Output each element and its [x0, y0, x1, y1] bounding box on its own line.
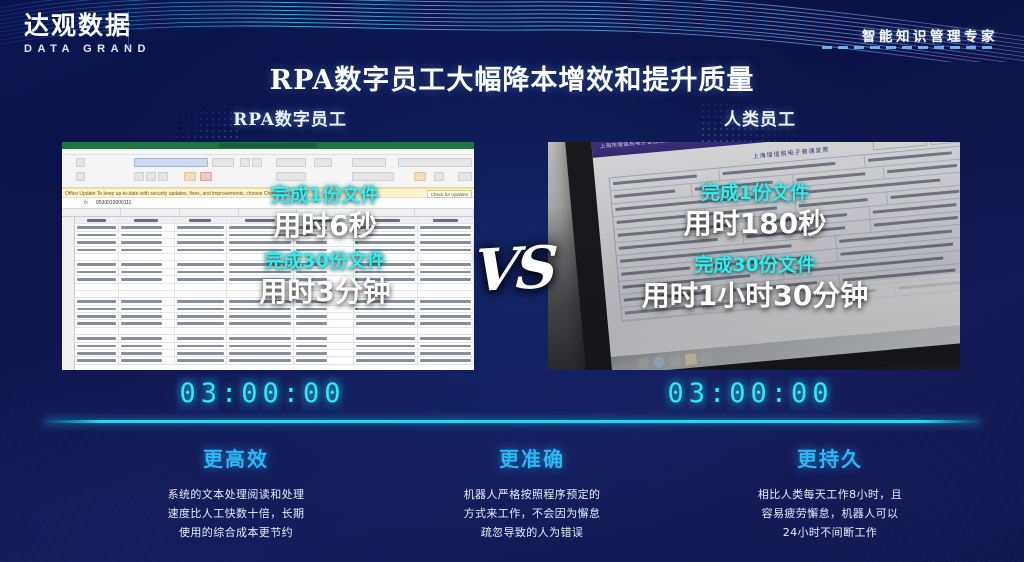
- table-cell[interactable]: [294, 261, 354, 267]
- excel-column-header-cell[interactable]: [121, 209, 180, 216]
- table-cell[interactable]: [119, 350, 175, 356]
- check-for-updates-button[interactable]: Check for Updates: [427, 190, 472, 198]
- table-cell[interactable]: [75, 247, 119, 253]
- timer-digit: 0: [727, 377, 747, 411]
- ribbon-orientation-icon: [314, 158, 332, 167]
- cell-text: [372, 219, 400, 222]
- table-cell[interactable]: [418, 284, 474, 290]
- table-cell[interactable]: [354, 224, 418, 230]
- table-cell[interactable]: [75, 284, 119, 290]
- cell-text: [229, 226, 292, 229]
- cell-text: [177, 226, 224, 229]
- table-cell[interactable]: [175, 350, 227, 356]
- brand-tagline: 智能知识管理专家: [862, 25, 998, 45]
- invoice-cell-text: [694, 181, 772, 191]
- table-cell[interactable]: [175, 217, 227, 223]
- brand-logo: 达观数据 DATA GRAND: [24, 13, 151, 55]
- cell-text: [121, 249, 162, 252]
- cell-text: [229, 337, 292, 340]
- cell-text: [296, 249, 326, 252]
- ribbon-align-group: [276, 158, 306, 167]
- cell-text: [229, 234, 292, 237]
- excel-column-header-cell[interactable]: [239, 209, 298, 216]
- cell-text: [177, 308, 224, 311]
- table-cell[interactable]: [354, 335, 418, 341]
- cell-status-dot: [355, 234, 357, 236]
- table-cell[interactable]: [227, 232, 295, 238]
- table-cell[interactable]: [175, 291, 227, 297]
- timer-digit: 0: [665, 377, 685, 411]
- table-cell[interactable]: [75, 254, 119, 260]
- cell-text: [77, 308, 116, 311]
- excel-column-header-cell[interactable]: [297, 209, 356, 216]
- cell-text: [177, 271, 224, 274]
- invoice-cell-text: [624, 291, 708, 301]
- excel-formula-value: 0530010000111: [96, 200, 131, 206]
- table-cell[interactable]: [294, 313, 354, 319]
- cell-status-dot: [355, 241, 357, 243]
- table-cell[interactable]: [227, 306, 295, 312]
- cell-text: [177, 278, 224, 281]
- left-timer: 03:00:00: [110, 377, 410, 411]
- cell-text: [356, 234, 415, 237]
- ribbon-bold-icon: [134, 172, 144, 181]
- table-cell[interactable]: [119, 232, 175, 238]
- table-cell[interactable]: [227, 291, 295, 297]
- table-cell[interactable]: [75, 276, 119, 282]
- table-cell[interactable]: [294, 306, 354, 312]
- table-cell[interactable]: [75, 343, 119, 349]
- excel-screenshot: Office Update To keep up-to-date with se…: [62, 142, 474, 370]
- cell-text: [296, 352, 326, 355]
- table-cell[interactable]: [227, 298, 295, 304]
- cell-text: [121, 300, 162, 303]
- cell-text: [296, 271, 326, 274]
- table-cell[interactable]: [119, 328, 175, 334]
- invoice-cell-text: [614, 190, 675, 198]
- cell-text: [420, 315, 471, 318]
- cell-text: [229, 308, 292, 311]
- excel-column-headers[interactable]: [62, 209, 474, 217]
- feature-2-line-2: 方式来工作，不会因为懈怠: [382, 504, 682, 523]
- table-cell[interactable]: [75, 291, 119, 297]
- table-cell[interactable]: [294, 269, 354, 275]
- table-cell[interactable]: [354, 343, 418, 349]
- cell-text: [420, 234, 471, 237]
- cell-text: [121, 315, 162, 318]
- table-row[interactable]: [75, 350, 474, 357]
- table-cell[interactable]: [75, 217, 119, 223]
- excel-column-header-cell[interactable]: [180, 209, 239, 216]
- excel-rows-container[interactable]: [75, 217, 474, 370]
- timer-digit: 0: [177, 377, 197, 411]
- cell-text: [77, 249, 116, 252]
- table-cell[interactable]: [418, 328, 474, 334]
- table-cell[interactable]: [294, 276, 354, 282]
- table-cell[interactable]: [227, 350, 295, 356]
- table-cell[interactable]: [119, 247, 175, 253]
- table-cell[interactable]: [294, 357, 354, 363]
- table-cell[interactable]: [354, 313, 418, 319]
- cell-text: [433, 219, 457, 222]
- table-cell[interactable]: [294, 217, 354, 223]
- table-cell[interactable]: [119, 343, 175, 349]
- cell-text: [356, 322, 415, 325]
- table-cell[interactable]: [119, 306, 175, 312]
- table-cell[interactable]: [354, 328, 418, 334]
- cell-text: [356, 263, 415, 266]
- cell-text: [356, 241, 415, 244]
- cell-text: [420, 241, 471, 244]
- ribbon-currency-icon: [414, 172, 426, 181]
- invoice-cell-text: [888, 164, 957, 173]
- table-cell[interactable]: [227, 254, 295, 260]
- table-cell[interactable]: [294, 343, 354, 349]
- table-cell[interactable]: [75, 232, 119, 238]
- timer-digit: 0: [810, 377, 830, 411]
- table-cell[interactable]: [418, 320, 474, 326]
- table-cell[interactable]: [418, 254, 474, 260]
- cell-text: [177, 234, 224, 237]
- table-row[interactable]: [75, 217, 474, 224]
- cell-text: [296, 359, 326, 362]
- table-cell[interactable]: [354, 239, 418, 245]
- table-cell[interactable]: [227, 343, 295, 349]
- cell-text: [229, 322, 292, 325]
- cell-text: [356, 300, 415, 303]
- table-cell[interactable]: [75, 335, 119, 341]
- excel-row-headers[interactable]: [62, 217, 75, 370]
- table-cell[interactable]: [227, 217, 295, 223]
- table-cell[interactable]: [119, 269, 175, 275]
- table-cell[interactable]: [119, 254, 175, 260]
- cell-text: [229, 359, 292, 362]
- table-row[interactable]: [75, 269, 474, 276]
- taskbar-folder-icon: [685, 353, 697, 365]
- table-cell[interactable]: [354, 357, 418, 363]
- table-cell[interactable]: [227, 269, 295, 275]
- table-cell[interactable]: [354, 276, 418, 282]
- table-cell[interactable]: [354, 254, 418, 260]
- table-cell[interactable]: [175, 247, 227, 253]
- table-cell[interactable]: [418, 239, 474, 245]
- feature-3-body: 相比人类每天工作8小时，且 容易疲劳懈怠，机器人可以 24小时不间断工作: [680, 485, 980, 542]
- table-row[interactable]: [75, 298, 474, 305]
- table-cell[interactable]: [354, 269, 418, 275]
- table-row[interactable]: [75, 291, 474, 298]
- table-cell[interactable]: [227, 276, 295, 282]
- table-cell[interactable]: [354, 261, 418, 267]
- table-cell[interactable]: [294, 350, 354, 356]
- excel-update-message: Office Update To keep up-to-date with se…: [65, 191, 307, 197]
- versus-label: VS: [473, 233, 556, 305]
- table-cell[interactable]: [119, 313, 175, 319]
- ribbon-wrap-text-button: [352, 158, 386, 167]
- cell-text: [245, 219, 274, 222]
- invoice-cell-text: [796, 172, 865, 181]
- cell-status-dot: [355, 263, 357, 265]
- table-cell[interactable]: [119, 284, 175, 290]
- cell-text: [420, 300, 471, 303]
- table-cell[interactable]: [175, 306, 227, 312]
- table-cell[interactable]: [418, 291, 474, 297]
- table-cell[interactable]: [175, 284, 227, 290]
- table-cell[interactable]: [354, 247, 418, 253]
- table-cell[interactable]: [75, 320, 119, 326]
- feature-3-line-1: 相比人类每天工作8小时，且: [680, 485, 980, 504]
- table-row[interactable]: [75, 328, 474, 335]
- timer-digit: 0: [322, 377, 342, 411]
- ribbon-font-color-icon: [200, 172, 212, 181]
- table-cell[interactable]: [75, 298, 119, 304]
- table-cell[interactable]: [75, 269, 119, 275]
- table-cell[interactable]: [175, 335, 227, 341]
- table-cell[interactable]: [119, 357, 175, 363]
- table-row[interactable]: [75, 261, 474, 268]
- table-cell[interactable]: [418, 335, 474, 341]
- table-cell[interactable]: [294, 291, 354, 297]
- taskbar-explorer-icon: [669, 354, 681, 366]
- cell-text: [420, 263, 471, 266]
- table-cell[interactable]: [119, 261, 175, 267]
- feature-2-body: 机器人严格按照程序预定的 方式来工作，不会因为懈怠 疏忽导致的人为错误: [382, 485, 682, 542]
- table-cell[interactable]: [294, 328, 354, 334]
- table-cell[interactable]: [75, 224, 119, 230]
- table-cell[interactable]: [175, 343, 227, 349]
- table-cell[interactable]: [227, 313, 295, 319]
- table-cell[interactable]: [354, 320, 418, 326]
- ribbon-number-format-select: [398, 158, 472, 167]
- table-cell[interactable]: [418, 306, 474, 312]
- feature-3-line-3: 24小时不间断工作: [680, 523, 980, 542]
- cell-text: [121, 345, 162, 348]
- excel-update-notification-bar[interactable]: Office Update To keep up-to-date with se…: [62, 188, 474, 198]
- table-cell[interactable]: [354, 284, 418, 290]
- cell-text: [177, 315, 224, 318]
- table-cell[interactable]: [175, 232, 227, 238]
- table-cell[interactable]: [418, 313, 474, 319]
- table-cell[interactable]: [75, 239, 119, 245]
- table-row[interactable]: [75, 284, 474, 291]
- table-cell[interactable]: [119, 291, 175, 297]
- table-row[interactable]: [75, 276, 474, 283]
- table-cell[interactable]: [175, 357, 227, 363]
- table-row[interactable]: [75, 335, 474, 342]
- table-cell[interactable]: [175, 261, 227, 267]
- table-cell[interactable]: [227, 224, 295, 230]
- table-cell[interactable]: [119, 335, 175, 341]
- table-cell[interactable]: [175, 276, 227, 282]
- table-cell[interactable]: [294, 254, 354, 260]
- table-cell[interactable]: [354, 298, 418, 304]
- table-row[interactable]: [75, 232, 474, 239]
- ribbon-italic-icon: [146, 172, 156, 181]
- cell-text: [356, 249, 415, 252]
- table-cell[interactable]: [175, 239, 227, 245]
- excel-column-header-cell[interactable]: [356, 209, 415, 216]
- cell-text: [420, 249, 471, 252]
- table-cell[interactable]: [354, 350, 418, 356]
- ribbon-percent-icon: [434, 172, 444, 181]
- ribbon-font-size-box: [212, 158, 234, 167]
- table-cell[interactable]: [418, 217, 474, 223]
- table-cell[interactable]: [75, 261, 119, 267]
- cell-text: [121, 352, 162, 355]
- table-cell[interactable]: [227, 247, 295, 253]
- table-cell[interactable]: [227, 357, 295, 363]
- cell-text: [177, 249, 224, 252]
- table-row[interactable]: [75, 306, 474, 313]
- page-title: RPA数字员工大幅降本增效和提升质量: [0, 58, 1024, 97]
- invoice-cell-text: [807, 289, 876, 298]
- cell-text: [229, 249, 292, 252]
- cell-text: [296, 308, 326, 311]
- table-cell[interactable]: [294, 320, 354, 326]
- feature-block-1: 更高效 系统的文本处理阅读和处理 速度比人工快数十倍，长期 使用的综合成本更节约: [86, 443, 386, 542]
- cell-text: [77, 300, 116, 303]
- table-cell[interactable]: [418, 350, 474, 356]
- excel-grid[interactable]: [62, 217, 474, 370]
- table-cell[interactable]: [75, 357, 119, 363]
- table-cell[interactable]: [175, 269, 227, 275]
- table-cell[interactable]: [227, 320, 295, 326]
- table-cell[interactable]: [119, 320, 175, 326]
- right-column-caption: 人类员工: [610, 105, 910, 130]
- cell-text: [296, 345, 326, 348]
- table-cell[interactable]: [175, 328, 227, 334]
- table-cell[interactable]: [75, 306, 119, 312]
- invoice-cell-text: [898, 280, 960, 289]
- cell-text: [134, 219, 158, 222]
- photo-monitor: 上海市增值税电子普通发票 2019-07-15 18:05:41 上海增值税电子…: [564, 142, 960, 370]
- cell-text: [229, 263, 292, 266]
- cell-text: [177, 352, 224, 355]
- cell-text: [356, 352, 415, 355]
- table-cell[interactable]: [119, 239, 175, 245]
- tagline-dashed-rule: [822, 46, 998, 49]
- table-cell[interactable]: [294, 232, 354, 238]
- timer-separator: :: [220, 377, 238, 411]
- table-cell[interactable]: [119, 217, 175, 223]
- cell-text: [177, 300, 224, 303]
- table-cell[interactable]: [354, 217, 418, 223]
- cell-text: [356, 315, 415, 318]
- table-cell[interactable]: [418, 357, 474, 363]
- cell-text: [121, 308, 162, 311]
- cell-text: [177, 359, 224, 362]
- ribbon-paste-icon: [76, 158, 85, 167]
- timer-digit: 0: [239, 377, 259, 411]
- table-cell[interactable]: [227, 335, 295, 341]
- timer-digit: 0: [301, 377, 321, 411]
- cell-text: [121, 359, 162, 362]
- table-cell[interactable]: [227, 284, 295, 290]
- timer-digit: 0: [749, 377, 769, 411]
- table-cell[interactable]: [418, 269, 474, 275]
- cell-text: [420, 308, 471, 311]
- table-cell[interactable]: [75, 350, 119, 356]
- table-cell[interactable]: [294, 298, 354, 304]
- invoice-cell-text: [708, 206, 777, 215]
- table-cell[interactable]: [175, 254, 227, 260]
- table-row[interactable]: [75, 343, 474, 350]
- timer-digit: 0: [789, 377, 809, 411]
- table-row[interactable]: [75, 313, 474, 320]
- versus-badge: VS: [470, 228, 558, 310]
- cell-text: [229, 300, 292, 303]
- table-row[interactable]: [75, 357, 474, 364]
- table-row[interactable]: [75, 247, 474, 254]
- table-cell[interactable]: [294, 224, 354, 230]
- invoice-cell-text: [799, 198, 868, 207]
- table-row[interactable]: [75, 320, 474, 327]
- table-cell[interactable]: [294, 284, 354, 290]
- ribbon-fill-color-icon: [184, 172, 196, 181]
- table-cell[interactable]: [354, 291, 418, 297]
- table-cell[interactable]: [294, 247, 354, 253]
- cell-text: [420, 359, 471, 362]
- table-cell[interactable]: [418, 343, 474, 349]
- table-cell[interactable]: [418, 261, 474, 267]
- table-cell[interactable]: [418, 247, 474, 253]
- table-cell[interactable]: [418, 276, 474, 282]
- timer-separator: :: [770, 377, 788, 411]
- cell-text: [229, 345, 292, 348]
- table-row[interactable]: [75, 239, 474, 246]
- table-cell[interactable]: [354, 232, 418, 238]
- table-cell[interactable]: [175, 313, 227, 319]
- cell-text: [77, 241, 116, 244]
- cell-text: [121, 226, 162, 229]
- cell-text: [229, 315, 292, 318]
- cell-text: [121, 322, 162, 325]
- invoice-cell-text: [613, 175, 697, 185]
- table-cell[interactable]: [227, 328, 295, 334]
- table-cell[interactable]: [119, 298, 175, 304]
- table-cell[interactable]: [119, 224, 175, 230]
- table-cell[interactable]: [294, 335, 354, 341]
- table-cell[interactable]: [227, 239, 295, 245]
- table-row[interactable]: [75, 254, 474, 261]
- table-cell[interactable]: [418, 232, 474, 238]
- table-cell[interactable]: [175, 298, 227, 304]
- table-cell[interactable]: [119, 276, 175, 282]
- table-cell[interactable]: [175, 224, 227, 230]
- cell-text: [420, 352, 471, 355]
- feature-1-line-1: 系统的文本处理阅读和处理: [86, 485, 386, 504]
- cell-text: [77, 315, 116, 318]
- table-cell[interactable]: [175, 320, 227, 326]
- table-cell[interactable]: [418, 298, 474, 304]
- cell-status-dot: [355, 308, 357, 310]
- feature-2-title: 更准确: [382, 443, 682, 472]
- table-cell[interactable]: [354, 306, 418, 312]
- excel-column-header-cell[interactable]: [62, 209, 121, 216]
- excel-formula-bar[interactable]: 0530010000111: [62, 198, 474, 209]
- cell-text: [77, 337, 116, 340]
- table-cell[interactable]: [294, 239, 354, 245]
- cell-text: [311, 219, 337, 222]
- timer-separator: :: [708, 377, 726, 411]
- table-cell[interactable]: [418, 224, 474, 230]
- excel-column-header-cell[interactable]: [415, 209, 474, 216]
- table-row[interactable]: [75, 224, 474, 231]
- photo-invoice-table: [609, 144, 960, 322]
- invoice-cell-text: [890, 190, 959, 199]
- table-cell[interactable]: [75, 313, 119, 319]
- table-cell[interactable]: [75, 328, 119, 334]
- table-cell[interactable]: [227, 261, 295, 267]
